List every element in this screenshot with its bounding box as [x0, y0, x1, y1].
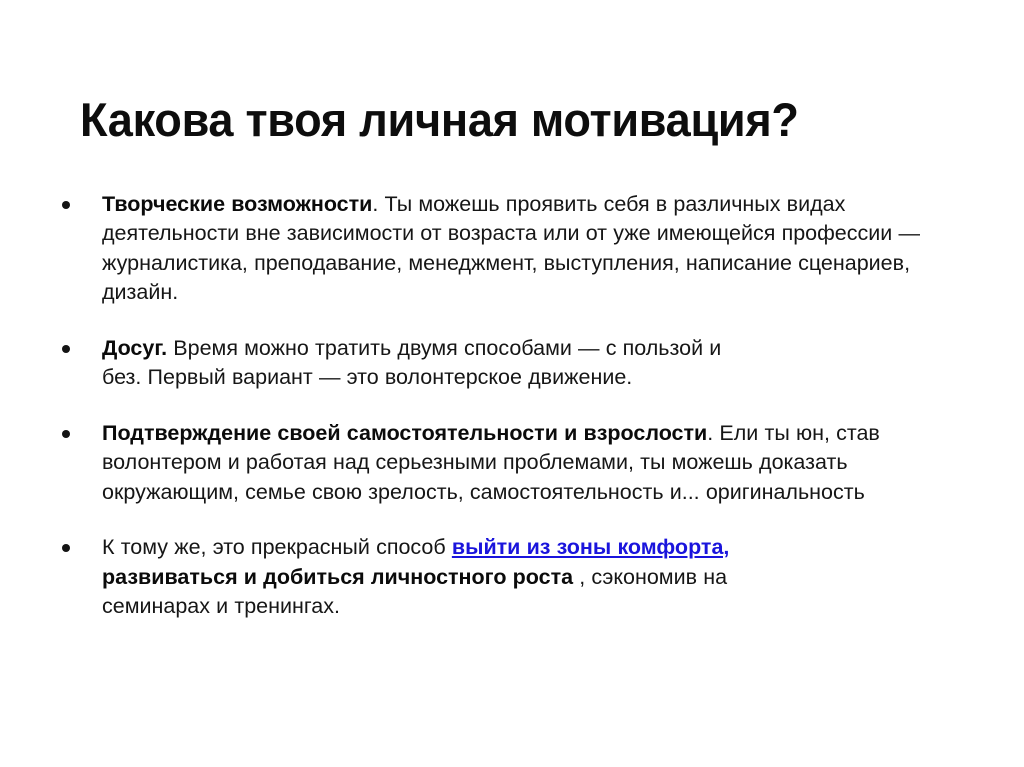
page-title: Какова твоя личная мотивация? [80, 91, 925, 149]
bullet-lead-label: Творческие возможности [102, 192, 372, 216]
bullet-lead-label: Подтверждение своей самостоятельности и … [102, 421, 707, 445]
bullet-list: Творческие возможности. Ты можешь прояви… [55, 168, 985, 643]
list-item: К тому же, это прекрасный способ выйти и… [55, 533, 985, 622]
bullet-paragraph: Творческие возможности. Ты можешь прояви… [102, 190, 985, 308]
bullet-dot-icon [62, 430, 70, 438]
bullet-paragraph: К тому же, это прекрасный способ выйти и… [102, 533, 762, 622]
list-item: Досуг. Время можно тратить двумя способа… [55, 334, 985, 393]
bullet-lead-label: Досуг. [102, 336, 167, 360]
bullet-paragraph: Досуг. Время можно тратить двумя способа… [102, 334, 762, 393]
slide-canvas: Какова твоя личная мотивация? Творческие… [0, 0, 1024, 767]
list-item: Подтверждение своей самостоятельности и … [55, 419, 985, 508]
bullet-body-text: Время можно тратить двумя способами — с … [102, 336, 721, 390]
bullet-paragraph: Подтверждение своей самостоятельности и … [102, 419, 982, 508]
bullet-dot-icon [62, 201, 70, 209]
bullet-bold-text: развиваться и добиться личностного роста [102, 565, 579, 589]
bullet-dot-icon [62, 544, 70, 552]
bullet-dot-icon [62, 345, 70, 353]
bullet-prefix-text: К тому же, это прекрасный способ [102, 535, 452, 559]
comfort-zone-link[interactable]: выйти из зоны комфорта, [452, 535, 730, 559]
list-item: Творческие возможности. Ты можешь прояви… [55, 190, 985, 308]
